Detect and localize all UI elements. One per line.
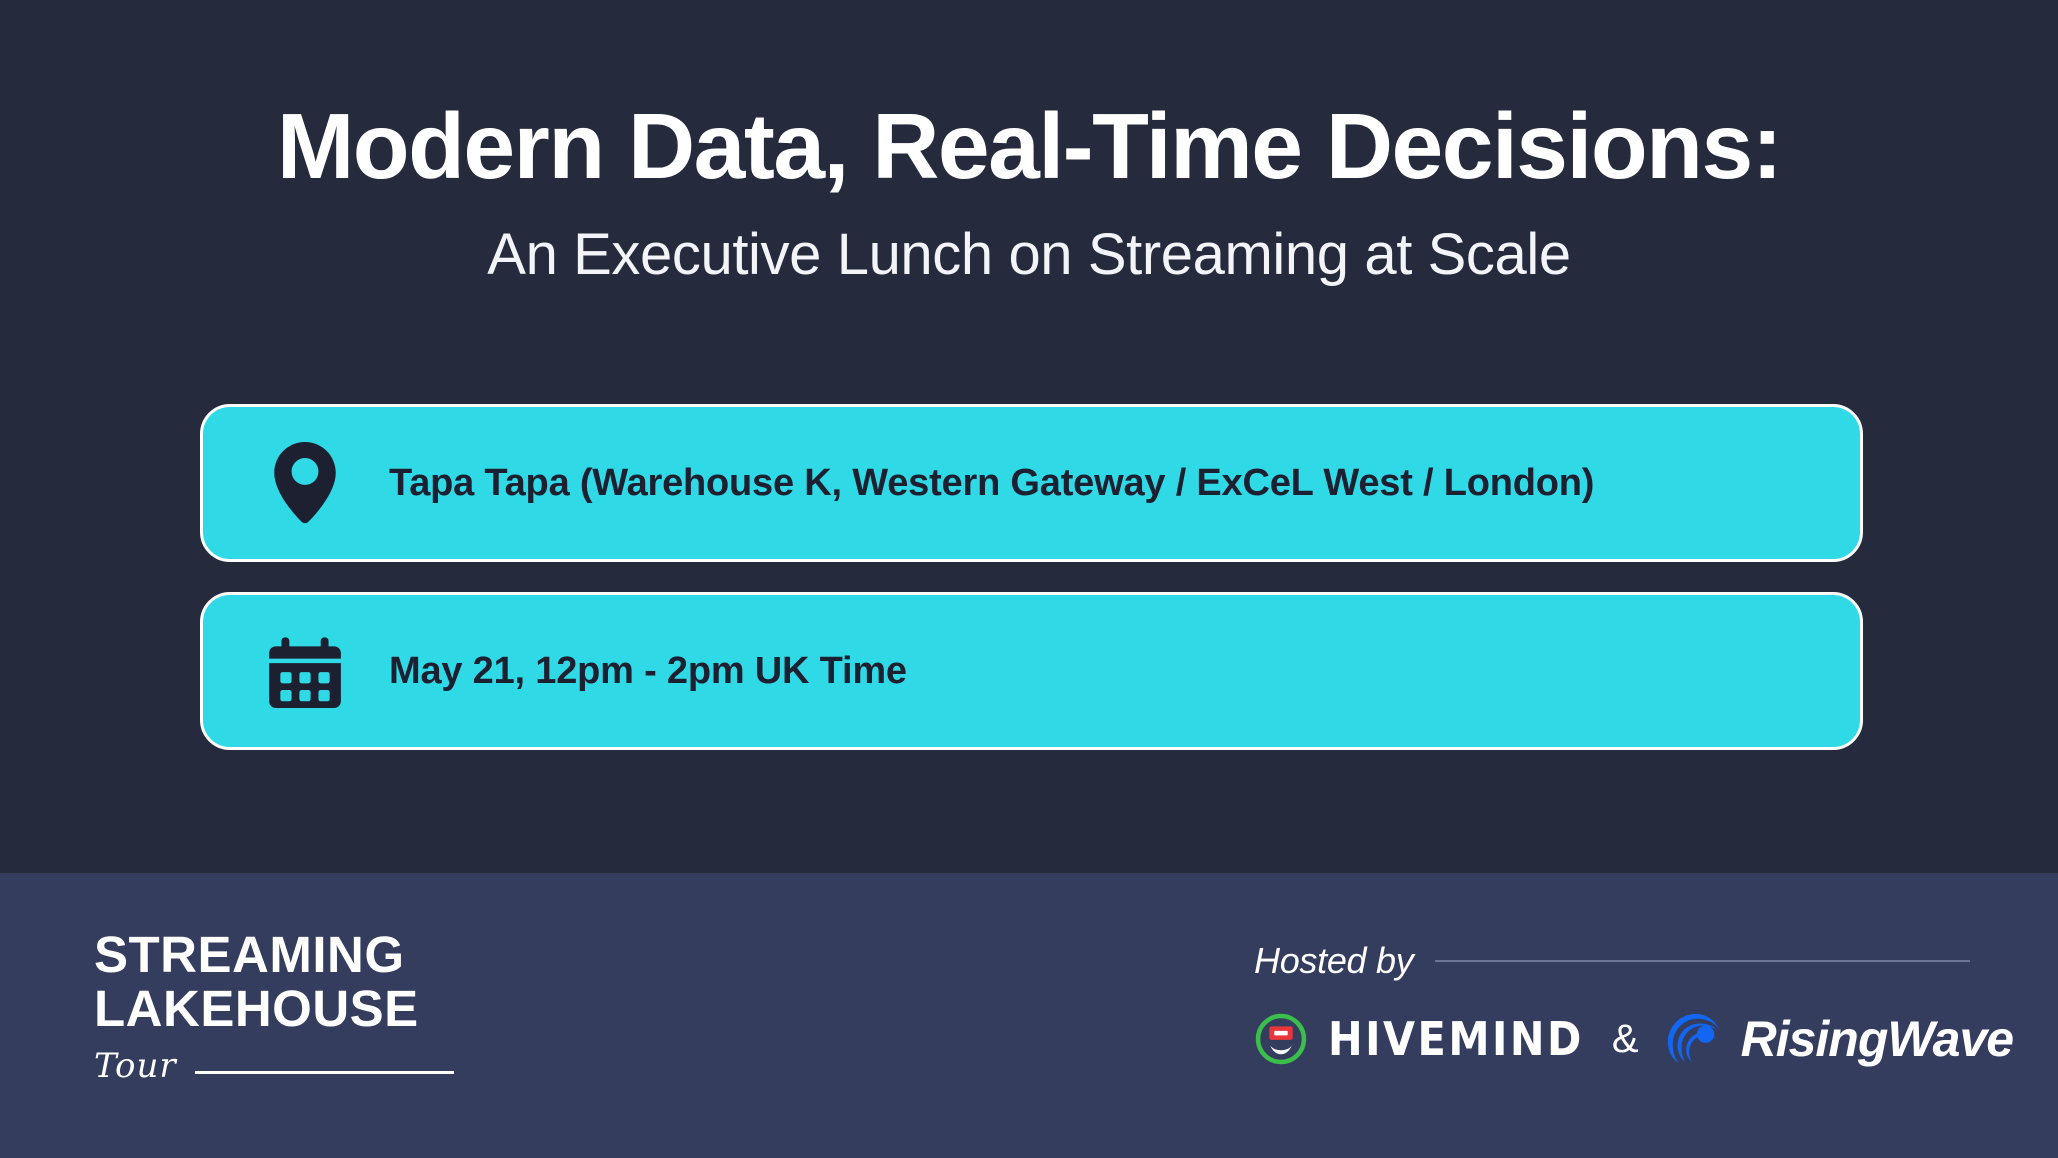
- event-details-list: Tapa Tapa (Warehouse K, Western Gateway …: [200, 404, 1863, 750]
- hosted-by-header: Hosted by: [1254, 940, 1970, 982]
- map-pin-icon: [265, 437, 345, 529]
- detail-location-text: Tapa Tapa (Warehouse K, Western Gateway …: [389, 462, 1594, 505]
- hosted-by-label: Hosted by: [1254, 940, 1413, 982]
- sponsor-name-risingwave: RisingWave: [1741, 1014, 2014, 1064]
- detail-datetime-text: May 21, 12pm - 2pm UK Time: [389, 650, 907, 693]
- sponsor-logo-hivemind: HIVEMIND: [1254, 1012, 1584, 1066]
- logo-tour-rule: [195, 1071, 454, 1074]
- logo-tour-row: Tour: [94, 1049, 454, 1083]
- sponsor-logos-row: HIVEMIND & RisingWave: [1254, 1010, 1970, 1068]
- calendar-icon: [265, 625, 345, 717]
- page-subtitle: An Executive Lunch on Streaming at Scale: [0, 221, 2058, 288]
- detail-pill-datetime: May 21, 12pm - 2pm UK Time: [200, 592, 1863, 750]
- logo-line-lakehouse: LAKEHOUSE: [94, 982, 454, 1036]
- logo-line-streaming: STREAMING: [94, 928, 454, 982]
- page-title: Modern Data, Real-Time Decisions:: [0, 98, 2058, 195]
- hivemind-face-icon: [1254, 1012, 1308, 1066]
- risingwave-wave-icon: [1663, 1010, 1725, 1068]
- logo-line-tour: Tour: [94, 1049, 177, 1083]
- sponsor-logo-risingwave: RisingWave: [1663, 1010, 2014, 1068]
- hosted-by-block: Hosted by HIVEMIND &: [1254, 940, 1970, 1068]
- hosted-by-rule: [1435, 960, 1970, 962]
- event-banner: Modern Data, Real-Time Decisions: An Exe…: [0, 0, 2058, 1158]
- streaming-lakehouse-tour-logo: STREAMING LAKEHOUSE Tour: [94, 928, 454, 1083]
- sponsor-name-hivemind: HIVEMIND: [1328, 1016, 1584, 1062]
- detail-pill-location: Tapa Tapa (Warehouse K, Western Gateway …: [200, 404, 1863, 562]
- sponsor-separator: &: [1612, 1019, 1639, 1059]
- headline-block: Modern Data, Real-Time Decisions: An Exe…: [0, 0, 2058, 288]
